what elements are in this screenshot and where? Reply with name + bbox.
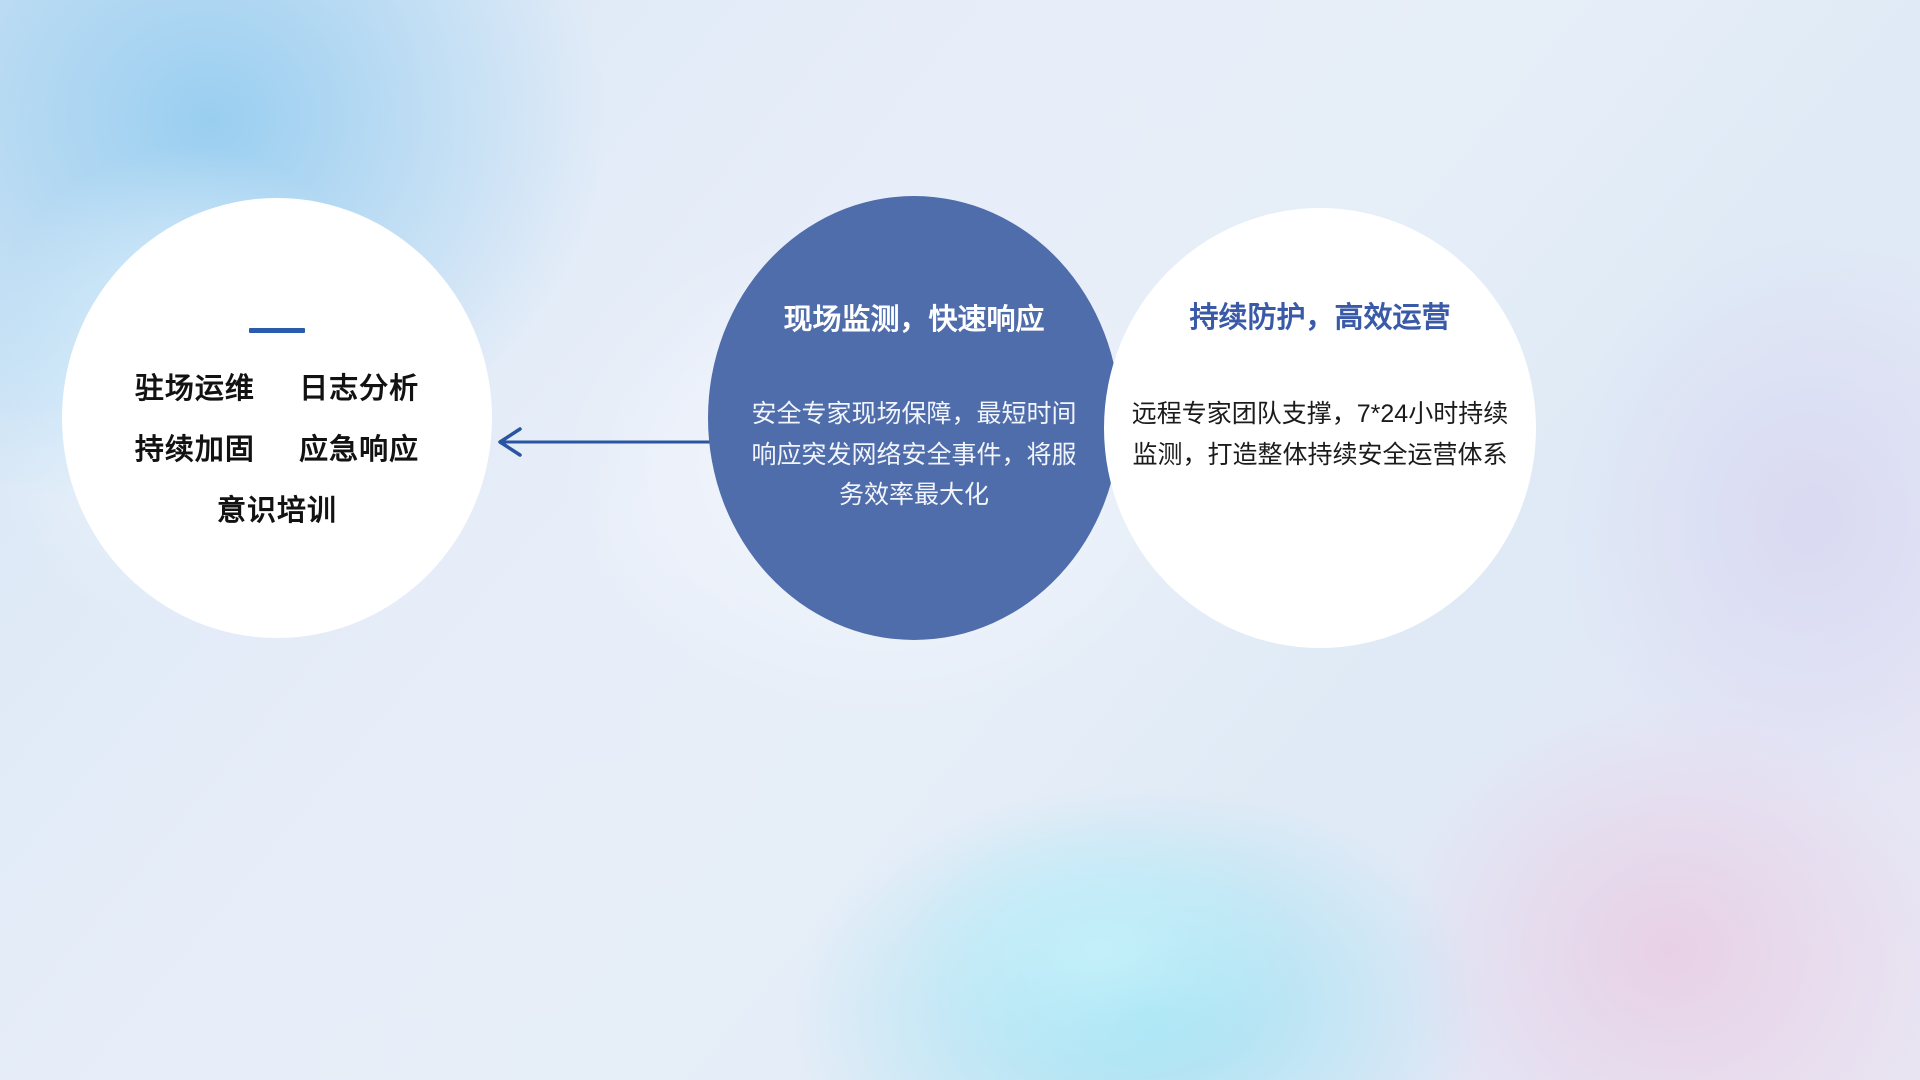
capability-circle-left[interactable]: 驻场运维 日志分析 持续加固 应急响应 意识培训: [62, 198, 492, 638]
background-glow-cyan: [640, 690, 1640, 1080]
arrow-left-icon: [500, 429, 718, 455]
keyword-row: 驻场运维 日志分析: [135, 375, 419, 404]
keyword-row: 意识培训: [135, 497, 419, 526]
keyword-list: 驻场运维 日志分析 持续加固 应急响应 意识培训: [135, 375, 419, 526]
circle-title: 持续防护，高效运营: [1189, 294, 1450, 336]
keyword-item: 意识培训: [217, 495, 337, 527]
capability-circle-middle[interactable]: 现场监测，快速响应 安全专家现场保障，最短时间响应突发网络安全事件，将服务效率最…: [708, 196, 1120, 640]
slide-canvas: 驻场运维 日志分析 持续加固 应急响应 意识培训 现场监测，快速响应 安全专家现…: [0, 0, 1920, 1080]
keyword-item: 驻场运维: [135, 373, 255, 405]
keyword-item: 日志分析: [299, 373, 419, 405]
capability-circle-right[interactable]: 持续防护，高效运营 远程专家团队支撑，7*24小时持续监测，打造整体持续安全运营…: [1104, 208, 1536, 648]
keyword-item: 应急响应: [299, 434, 419, 466]
flow-arrow-left: [480, 412, 720, 472]
circle-body: 安全专家现场保障，最短时间响应突发网络安全事件，将服务效率最大化: [749, 394, 1079, 516]
accent-dash: [249, 328, 305, 333]
background-glow-lavender: [1460, 120, 1920, 920]
background-glow-pink: [1290, 600, 1920, 1080]
circle-body: 远程专家团队支撑，7*24小时持续监测，打造整体持续安全运营体系: [1130, 394, 1510, 475]
background-glow-cyan-core: [820, 760, 1380, 1080]
keyword-item: 持续加固: [135, 434, 255, 466]
circle-title: 现场监测，快速响应: [783, 296, 1044, 338]
keyword-row: 持续加固 应急响应: [135, 436, 419, 465]
